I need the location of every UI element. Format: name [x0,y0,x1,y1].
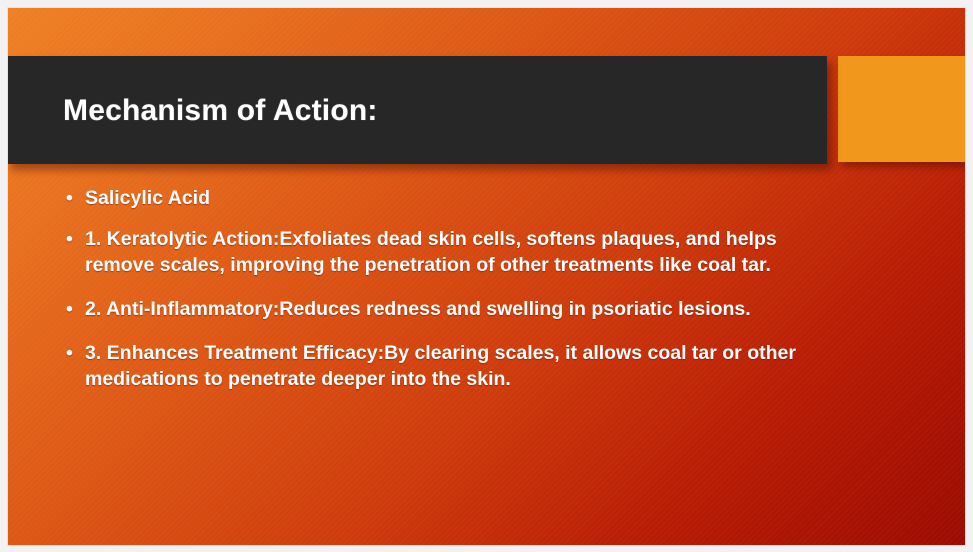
page-title: Mechanism of Action: [8,94,378,127]
bullet-icon: • [66,297,73,322]
list-item: • 3. Enhances Treatment Efficacy:By clea… [65,341,825,392]
bullet-icon: • [66,186,73,211]
slide-viewer: Mechanism of Action: • Salicylic Acid • … [0,0,973,552]
title-banner: Mechanism of Action: [8,56,827,164]
list-item-text: 2. Anti-Inflammatory:Reduces redness and… [85,298,751,320]
slide-canvas: Mechanism of Action: • Salicylic Acid • … [8,8,965,545]
list-item-text: 1. Keratolytic Action:Exfoliates dead sk… [85,228,777,275]
bullet-icon: • [66,341,73,366]
bullet-icon: • [66,227,73,252]
slide-body: • Salicylic Acid • 1. Keratolytic Action… [8,186,965,392]
list-item: • 1. Keratolytic Action:Exfoliates dead … [65,227,825,278]
list-item: • Salicylic Acid [65,186,825,211]
title-accent-block [838,56,965,162]
list-item-text: Salicylic Acid [85,187,210,209]
list-item-text: 3. Enhances Treatment Efficacy:By cleari… [85,342,796,389]
list-item: • 2. Anti-Inflammatory:Reduces redness a… [65,297,825,322]
